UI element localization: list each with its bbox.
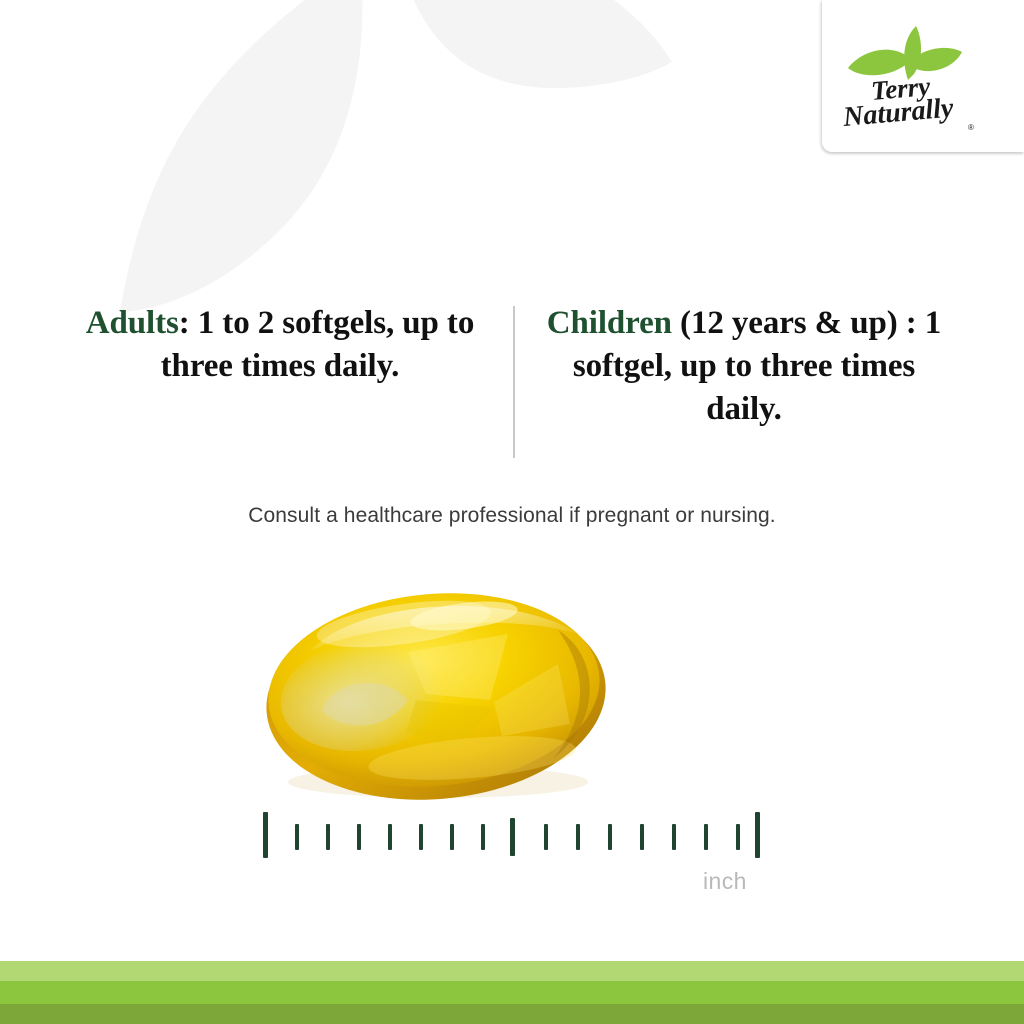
brand-wordmark: Terry Naturally ® [840, 74, 980, 136]
dosage-instructions: Adults: 1 to 2 softgels, up to three tim… [60, 302, 980, 462]
ruler-tick-minor [672, 824, 676, 850]
ruler-tick-minor [419, 824, 423, 850]
ruler-tick-minor [481, 824, 485, 850]
registered-trademark-symbol: ® [968, 123, 974, 132]
ruler-tick-major-end [755, 812, 760, 858]
ruler-tick-minor [544, 824, 548, 850]
leaf-watermark [0, 0, 700, 330]
brand-logo-card: Terry Naturally ® [822, 0, 1024, 152]
ruler-tick-minor [450, 824, 454, 850]
footer-band-light [0, 961, 1024, 981]
dosage-adults: Adults: 1 to 2 softgels, up to three tim… [68, 302, 492, 388]
advisory-text: Consult a healthcare professional if pre… [0, 504, 1024, 528]
ruler-tick-half-inch [510, 818, 515, 856]
dosage-adults-text: : 1 to 2 softgels, up to three times dai… [161, 305, 475, 384]
product-dosage-card: Terry Naturally ® Adults: 1 to 2 softgel… [0, 0, 1024, 1024]
ruler-tick-minor [357, 824, 361, 850]
ruler-tick-minor [608, 824, 612, 850]
ruler-tick-minor [295, 824, 299, 850]
wordmark-line-2: Naturally [841, 92, 955, 133]
dosage-adults-label: Adults [86, 305, 179, 341]
footer-band-dark [0, 1004, 1024, 1024]
softgel-capsule-image [258, 582, 614, 804]
dosage-children-label: Children [547, 305, 672, 341]
dosage-children: Children (12 years & up) : 1 softgel, up… [532, 302, 956, 431]
dosage-column-divider [513, 306, 515, 458]
ruler-tick-minor [640, 824, 644, 850]
ruler-tick-minor [576, 824, 580, 850]
footer-band-medium [0, 981, 1024, 1004]
ruler-tick-major-start [263, 812, 268, 858]
ruler-tick-minor [326, 824, 330, 850]
inch-ruler [258, 812, 768, 864]
ruler-tick-minor [388, 824, 392, 850]
ruler-tick-minor [704, 824, 708, 850]
ruler-tick-minor [736, 824, 740, 850]
ruler-unit-label: inch [703, 868, 747, 895]
